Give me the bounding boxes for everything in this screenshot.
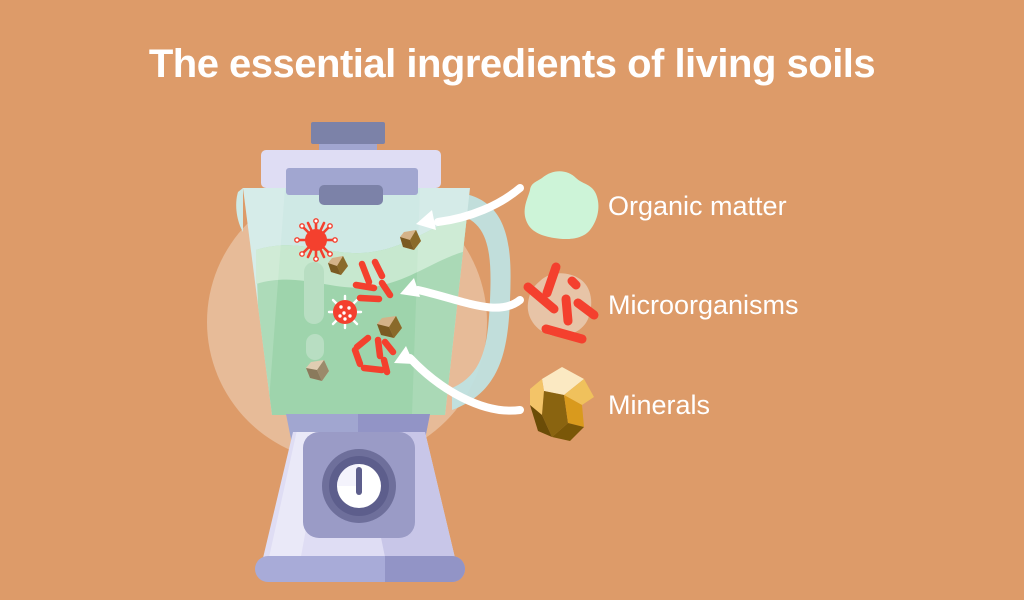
measure-mark-small — [306, 334, 324, 360]
legend-label-organic-matter: Organic matter — [608, 191, 787, 222]
lid-inner-band — [319, 185, 383, 205]
base-foot-shade — [385, 556, 465, 582]
organic-blob-icon — [512, 158, 608, 254]
legend-label-minerals: Minerals — [608, 390, 710, 421]
lid-cap — [311, 122, 385, 144]
jar-spout — [236, 188, 243, 232]
legend-label-microorganisms: Microorganisms — [608, 290, 799, 321]
measure-mark-large — [304, 262, 324, 324]
bacteria-cluster-icon — [512, 257, 608, 353]
mineral-rock-icon — [512, 357, 608, 453]
virus-organism-1 — [295, 219, 337, 261]
legend-item-organic-matter[interactable]: Organic matter — [512, 158, 787, 254]
infographic-canvas: The essential ingredients of living soil… — [0, 0, 1024, 600]
virus-organism-2 — [329, 296, 361, 328]
legend-item-microorganisms[interactable]: Microorganisms — [512, 257, 799, 353]
legend-item-minerals[interactable]: Minerals — [512, 357, 710, 453]
